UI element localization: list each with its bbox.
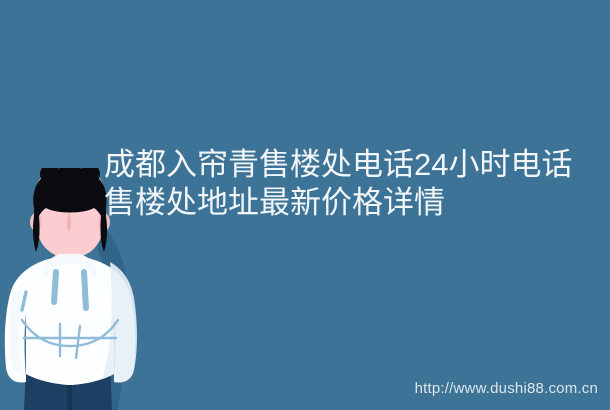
headline-text: 成都入帘青售楼处电话24小时电话售楼处地址最新价格详情 [104, 146, 578, 222]
watermark-url: http://www.dushi88.com.cn [415, 380, 598, 397]
promo-banner: 成都入帘青售楼处电话24小时电话售楼处地址最新价格详情 http://www.d… [0, 0, 610, 410]
